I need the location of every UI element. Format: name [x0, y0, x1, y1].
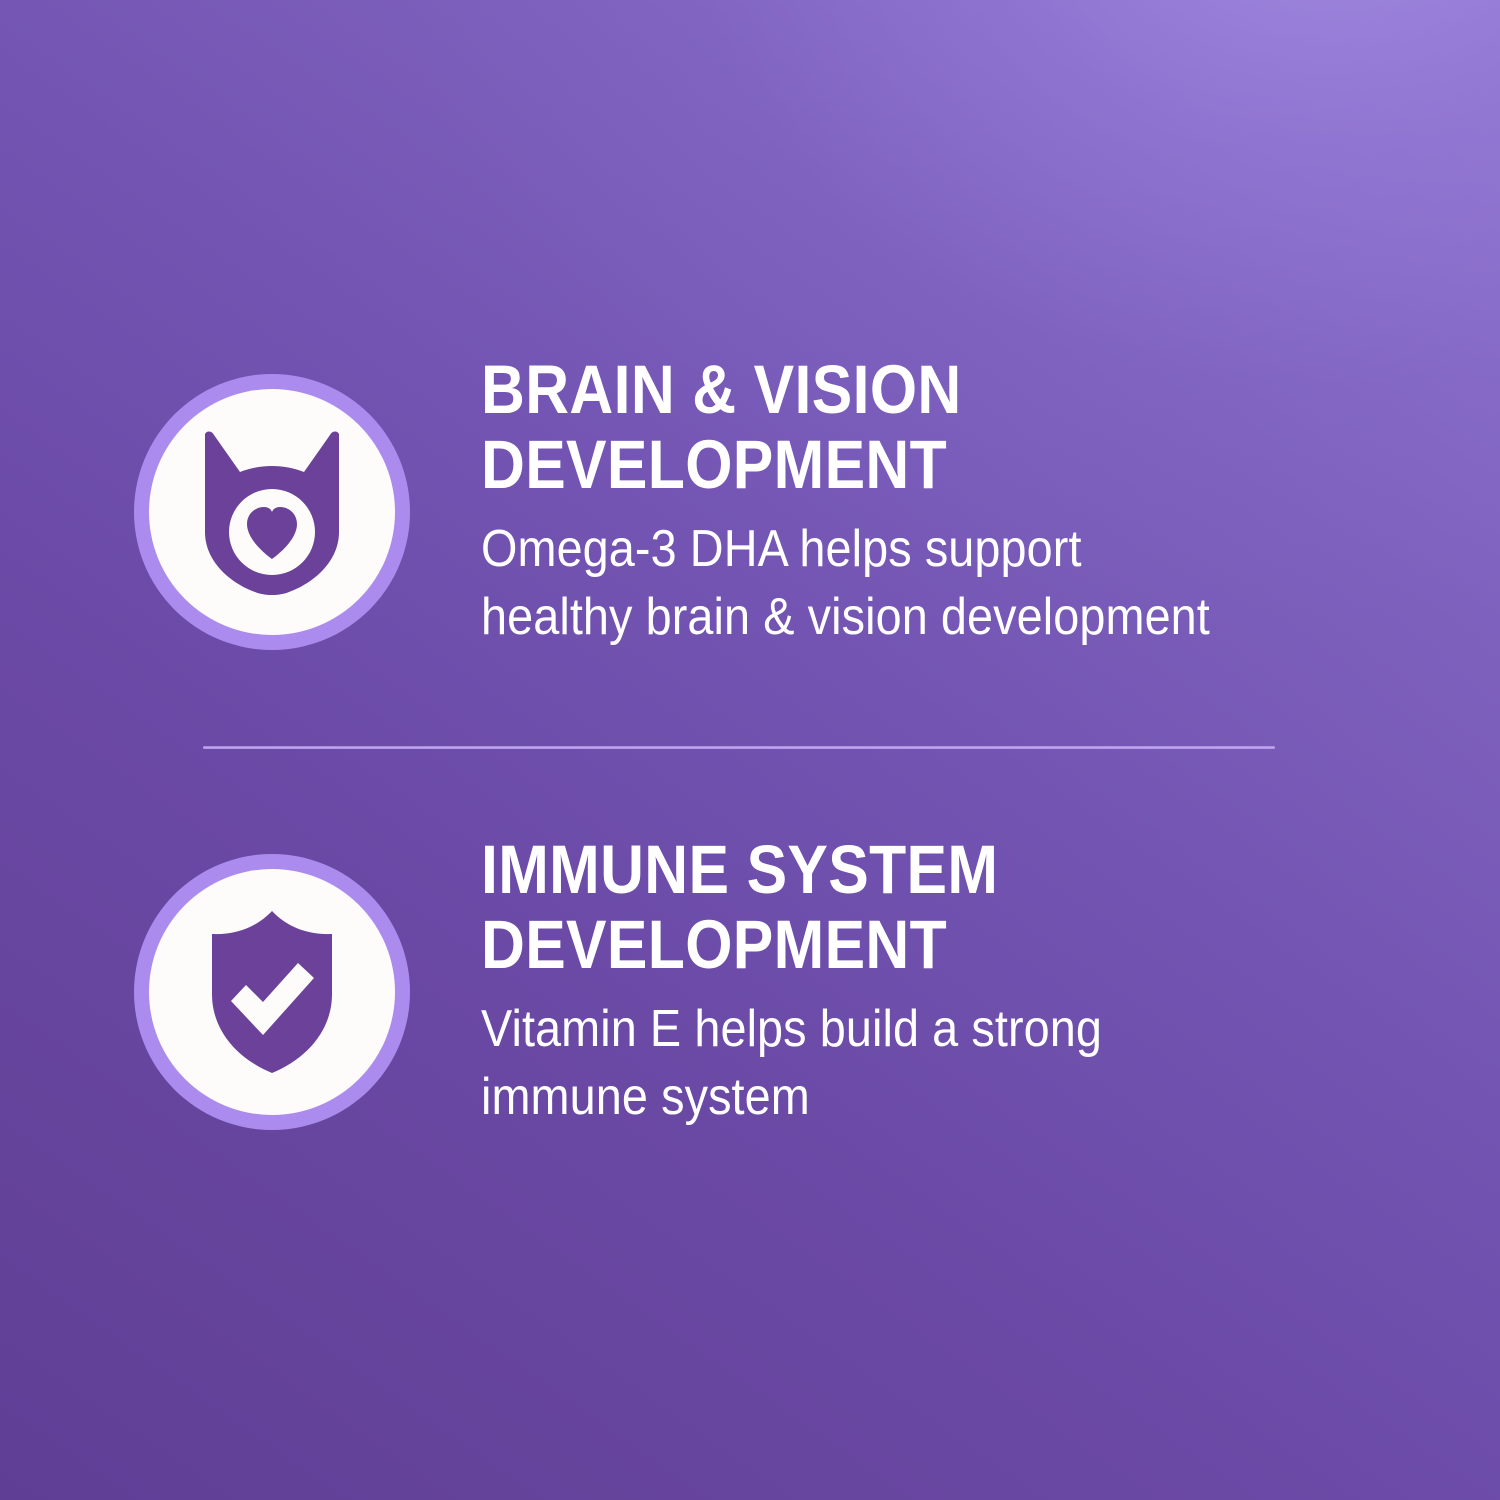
- badge-disc: [149, 389, 395, 635]
- benefits-list: BRAIN & VISION DEVELOPMENT Omega-3 DHA h…: [0, 0, 1500, 1500]
- benefit-text-block: IMMUNE SYSTEM DEVELOPMENT Vitamin E help…: [481, 832, 1361, 1132]
- benefit-text-block: BRAIN & VISION DEVELOPMENT Omega-3 DHA h…: [481, 352, 1361, 652]
- benefit-icon-badge: [134, 374, 410, 650]
- benefit-item-brain-vision: BRAIN & VISION DEVELOPMENT Omega-3 DHA h…: [0, 352, 1500, 652]
- benefit-description: Omega-3 DHA helps support healthy brain …: [481, 516, 1273, 651]
- shield-check-icon: [198, 909, 346, 1075]
- benefit-title: BRAIN & VISION DEVELOPMENT: [481, 352, 1255, 502]
- benefit-description: Vitamin E helps build a strong immune sy…: [481, 996, 1273, 1131]
- section-divider: [203, 746, 1275, 749]
- cat-head-heart-icon: [194, 428, 350, 596]
- benefit-icon-badge: [134, 854, 410, 1130]
- badge-disc: [149, 869, 395, 1115]
- benefit-title: IMMUNE SYSTEM DEVELOPMENT: [481, 832, 1255, 982]
- benefit-item-immune-system: IMMUNE SYSTEM DEVELOPMENT Vitamin E help…: [0, 832, 1500, 1132]
- benefits-panel: BRAIN & VISION DEVELOPMENT Omega-3 DHA h…: [0, 0, 1500, 1500]
